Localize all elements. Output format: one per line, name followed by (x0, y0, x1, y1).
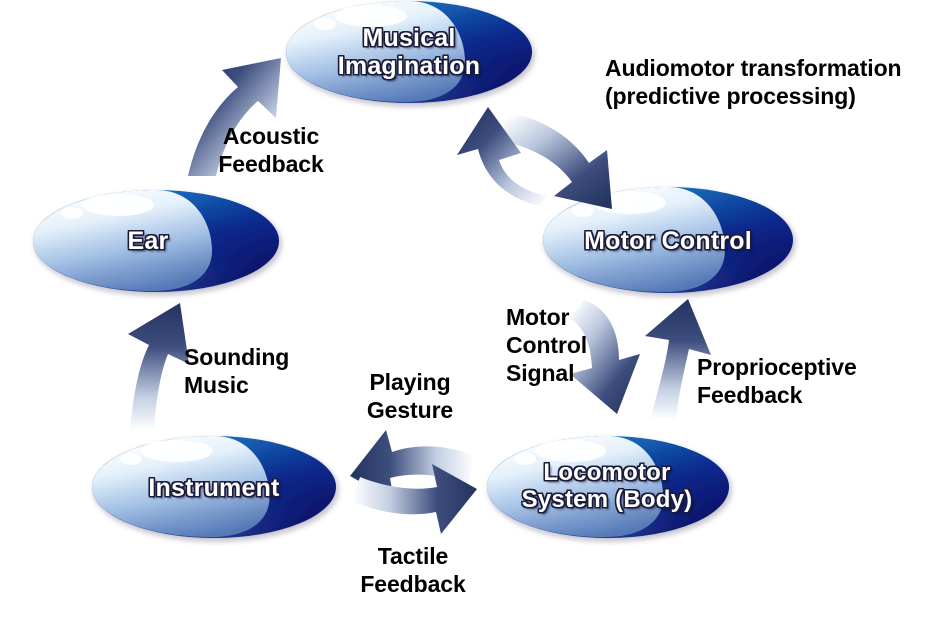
edge-label-playing-gesture: Playing Gesture (367, 368, 453, 424)
diagram-canvas: Musical Imagination Motor Control Ear Lo… (0, 0, 949, 618)
node-ear[interactable] (33, 190, 279, 292)
node-instrument[interactable] (92, 436, 336, 538)
edge-label-audiomotor-transformation: Audiomotor transformation (predictive pr… (605, 54, 902, 110)
edge-label-motor-control-signal: Motor Control Signal (506, 303, 587, 387)
node-musical-imagination[interactable] (286, 1, 532, 103)
node-motor-control[interactable] (543, 187, 793, 293)
arrow-sounding-music (128, 303, 189, 430)
edge-label-tactile-feedback: Tactile Feedback (360, 542, 465, 598)
edge-label-sounding-music: Sounding Music (184, 343, 289, 399)
edge-label-proprioceptive-feedback: Proprioceptive Feedback (697, 353, 857, 409)
edge-label-acoustic-feedback: Acoustic Feedback (218, 122, 323, 178)
node-locomotor-system[interactable] (487, 436, 729, 538)
